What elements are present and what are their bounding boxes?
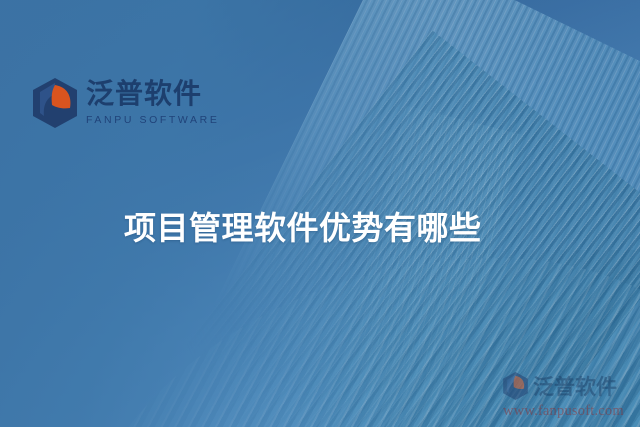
fanpu-hexagon-logo-watermark-icon	[503, 372, 528, 400]
watermark: 泛普软件 www.fanpusoft.com	[503, 371, 635, 420]
brand-name-cn: 泛普软件	[86, 80, 219, 108]
watermark-brand-name: 泛普软件	[533, 371, 617, 401]
page-title: 项目管理软件优势有哪些	[124, 203, 482, 249]
watermark-brand-row: 泛普软件	[503, 371, 635, 401]
skyscraper-tower-slim	[326, 105, 522, 427]
brand-name-en: FANPU SOFTWARE	[86, 115, 219, 126]
fanpu-hexagon-logo-icon	[33, 78, 77, 128]
brand-logo: 泛普软件 FANPU SOFTWARE	[33, 78, 219, 128]
watermark-url: www.fanpusoft.com	[503, 403, 635, 420]
brand-wordmark: 泛普软件 FANPU SOFTWARE	[86, 80, 219, 126]
promo-banner: 泛普软件 FANPU SOFTWARE 项目管理软件优势有哪些 泛普软件 www…	[0, 0, 640, 427]
